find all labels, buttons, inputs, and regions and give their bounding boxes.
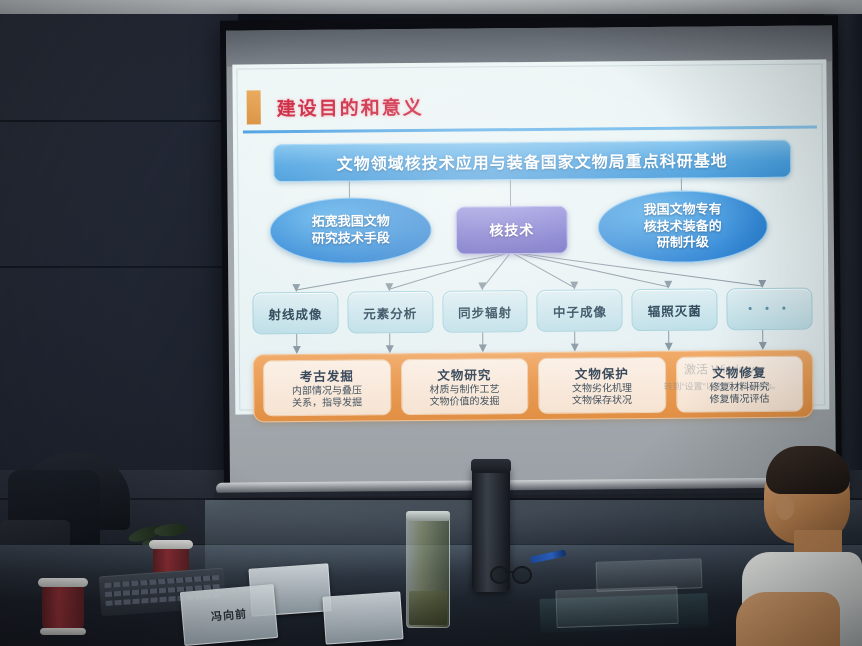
tech-label: 同步辐射 <box>458 302 512 321</box>
presentation-slide: 建设目的和意义 <box>232 59 829 414</box>
node-label: 核技术 <box>489 220 534 240</box>
node-label: 我国文物专有 核技术装备的 研制升级 <box>644 201 722 252</box>
thermos-cap <box>471 459 511 473</box>
slide-banner-label: 文物领域核技术应用与装备国家文物局重点科研基地 <box>337 147 728 174</box>
attendee-hair <box>766 446 850 494</box>
glasses-lens <box>512 566 532 584</box>
technology-row: 射线成像 元素分析 同步辐射 中子成像 辐照灭菌 • • • <box>252 288 812 335</box>
application-heading: 文物研究 <box>437 364 491 383</box>
application-relic-restoration: 文物修复 修复材料研究 修复情况评估 <box>675 356 803 413</box>
attendee-ear <box>776 496 794 520</box>
node-label: 拓宽我国文物 研究技术手段 <box>312 214 390 248</box>
application-relic-research: 文物研究 材质与制作工艺 文物价值的发掘 <box>400 358 528 415</box>
tech-box-neutron-imaging: 中子成像 <box>537 289 623 332</box>
name-placard-label: 冯向前 <box>210 605 247 624</box>
wall-seam <box>0 266 238 268</box>
slide-title: 建设目的和意义 <box>277 92 424 120</box>
wall-left-panel <box>0 14 238 504</box>
cup-lid <box>38 578 88 587</box>
glasses-bridge <box>505 571 514 573</box>
glasses-lens <box>490 566 510 584</box>
node-nuclear-technology: 核技术 <box>456 206 568 255</box>
application-archaeological-excavation: 考古发掘 内部情况与叠压 关系，指导发掘 <box>263 359 391 416</box>
application-band: 考古发掘 内部情况与叠压 关系，指导发掘 文物研究 材质与制作工艺 文物价值的发… <box>253 350 814 423</box>
tech-box-ellipsis: • • • <box>726 288 812 331</box>
conference-room-scene: 建设目的和意义 <box>0 0 862 646</box>
tech-box-irradiation-sterilization: 辐照灭菌 <box>632 288 718 331</box>
slide-title-row: 建设目的和意义 <box>247 89 424 125</box>
projector-screen: 建设目的和意义 <box>220 15 842 492</box>
application-detail: 文物劣化机理 文物保存状况 <box>572 383 632 408</box>
tea-leaves <box>409 591 447 625</box>
jar-cap <box>406 511 450 521</box>
tech-label: 射线成像 <box>268 303 322 322</box>
application-detail: 材质与制作工艺 文物价值的发掘 <box>429 384 499 409</box>
seated-attendee <box>742 452 862 646</box>
tech-label: 辐照灭菌 <box>648 300 702 319</box>
name-placard: 冯向前 <box>180 584 278 646</box>
eyeglasses <box>490 566 538 582</box>
cup-lid <box>149 540 193 549</box>
glass-tea-jar <box>406 516 450 628</box>
cup-base <box>40 628 86 635</box>
tech-label: 元素分析 <box>363 302 417 321</box>
tech-box-synchrotron-radiation: 同步辐射 <box>442 290 528 333</box>
tech-label: • • • <box>748 303 791 315</box>
slide-banner-node: 文物领域核技术应用与装备国家文物局重点科研基地 <box>273 140 791 183</box>
application-heading: 文物保护 <box>575 363 629 382</box>
name-placard <box>322 591 403 644</box>
application-detail: 内部情况与叠压 关系，指导发掘 <box>292 385 362 410</box>
tech-label: 中子成像 <box>553 301 607 320</box>
paper-sheet <box>555 586 678 628</box>
tech-box-element-analysis: 元素分析 <box>347 291 433 334</box>
paper-cup <box>42 584 84 630</box>
plant-leaf <box>153 522 188 537</box>
attendee-arm <box>736 592 840 646</box>
title-accent-bar <box>247 90 261 124</box>
application-detail: 修复材料研究 修复情况评估 <box>709 382 769 407</box>
wall-seam <box>0 120 238 122</box>
tech-box-ray-imaging: 射线成像 <box>252 292 338 335</box>
application-relic-protection: 文物保护 文物劣化机理 文物保存状况 <box>538 357 666 414</box>
application-heading: 考古发掘 <box>300 365 354 384</box>
application-heading: 文物修复 <box>712 362 766 381</box>
